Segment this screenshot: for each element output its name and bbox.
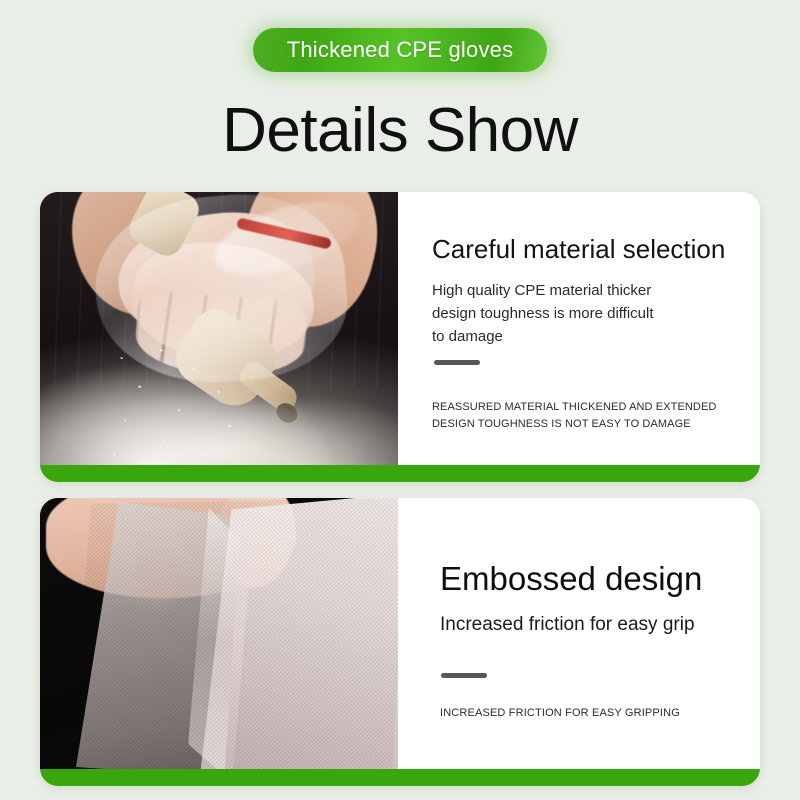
paragraph-line: to damage <box>432 326 692 349</box>
detail-card-material: Careful material selection High quality … <box>40 192 760 482</box>
card-body: Careful material selection High quality … <box>40 192 760 465</box>
detail-card-embossed: Embossed design Increased friction for e… <box>40 498 760 786</box>
product-badge: Thickened CPE gloves <box>253 28 548 72</box>
embossed-texture <box>70 498 398 769</box>
product-photo-rolling-pin <box>40 192 398 465</box>
product-detail-page: Thickened CPE gloves Details Show <box>0 0 800 800</box>
card-info-panel: Embossed design Increased friction for e… <box>398 498 760 769</box>
section-divider <box>441 673 487 678</box>
glove-sheen <box>206 192 367 289</box>
caption-line: DESIGN TOUGHNESS IS NOT EASY TO DAMAGE <box>432 416 722 433</box>
badge-container: Thickened CPE gloves <box>0 28 800 72</box>
caption-line: INCREASED FRICTION FOR EASY GRIPPING <box>440 707 680 719</box>
card-heading: Careful material selection <box>432 234 725 265</box>
card-subheading: Increased friction for easy grip <box>440 614 695 636</box>
card-paragraph: High quality CPE material thicker design… <box>432 280 692 348</box>
page-title: Details Show <box>0 99 800 162</box>
paragraph-line: High quality CPE material thicker <box>432 280 692 303</box>
card-heading: Embossed design <box>440 560 702 598</box>
badge-label: Thickened CPE gloves <box>287 37 514 63</box>
card-accent-bar <box>40 769 760 786</box>
card-accent-bar <box>40 465 760 482</box>
card-body: Embossed design Increased friction for e… <box>40 498 760 769</box>
card-info-panel: Careful material selection High quality … <box>398 192 760 465</box>
caption-line: REASSURED MATERIAL THICKENED AND EXTENDE… <box>432 399 722 416</box>
flour-dust-particles <box>100 340 280 465</box>
card-caption-uppercase: REASSURED MATERIAL THICKENED AND EXTENDE… <box>432 399 722 432</box>
product-photo-embossed-film <box>40 498 398 769</box>
section-divider <box>434 360 480 365</box>
paragraph-line: design toughness is more difficult <box>432 303 692 326</box>
card-caption-uppercase: INCREASED FRICTION FOR EASY GRIPPING <box>440 707 680 719</box>
